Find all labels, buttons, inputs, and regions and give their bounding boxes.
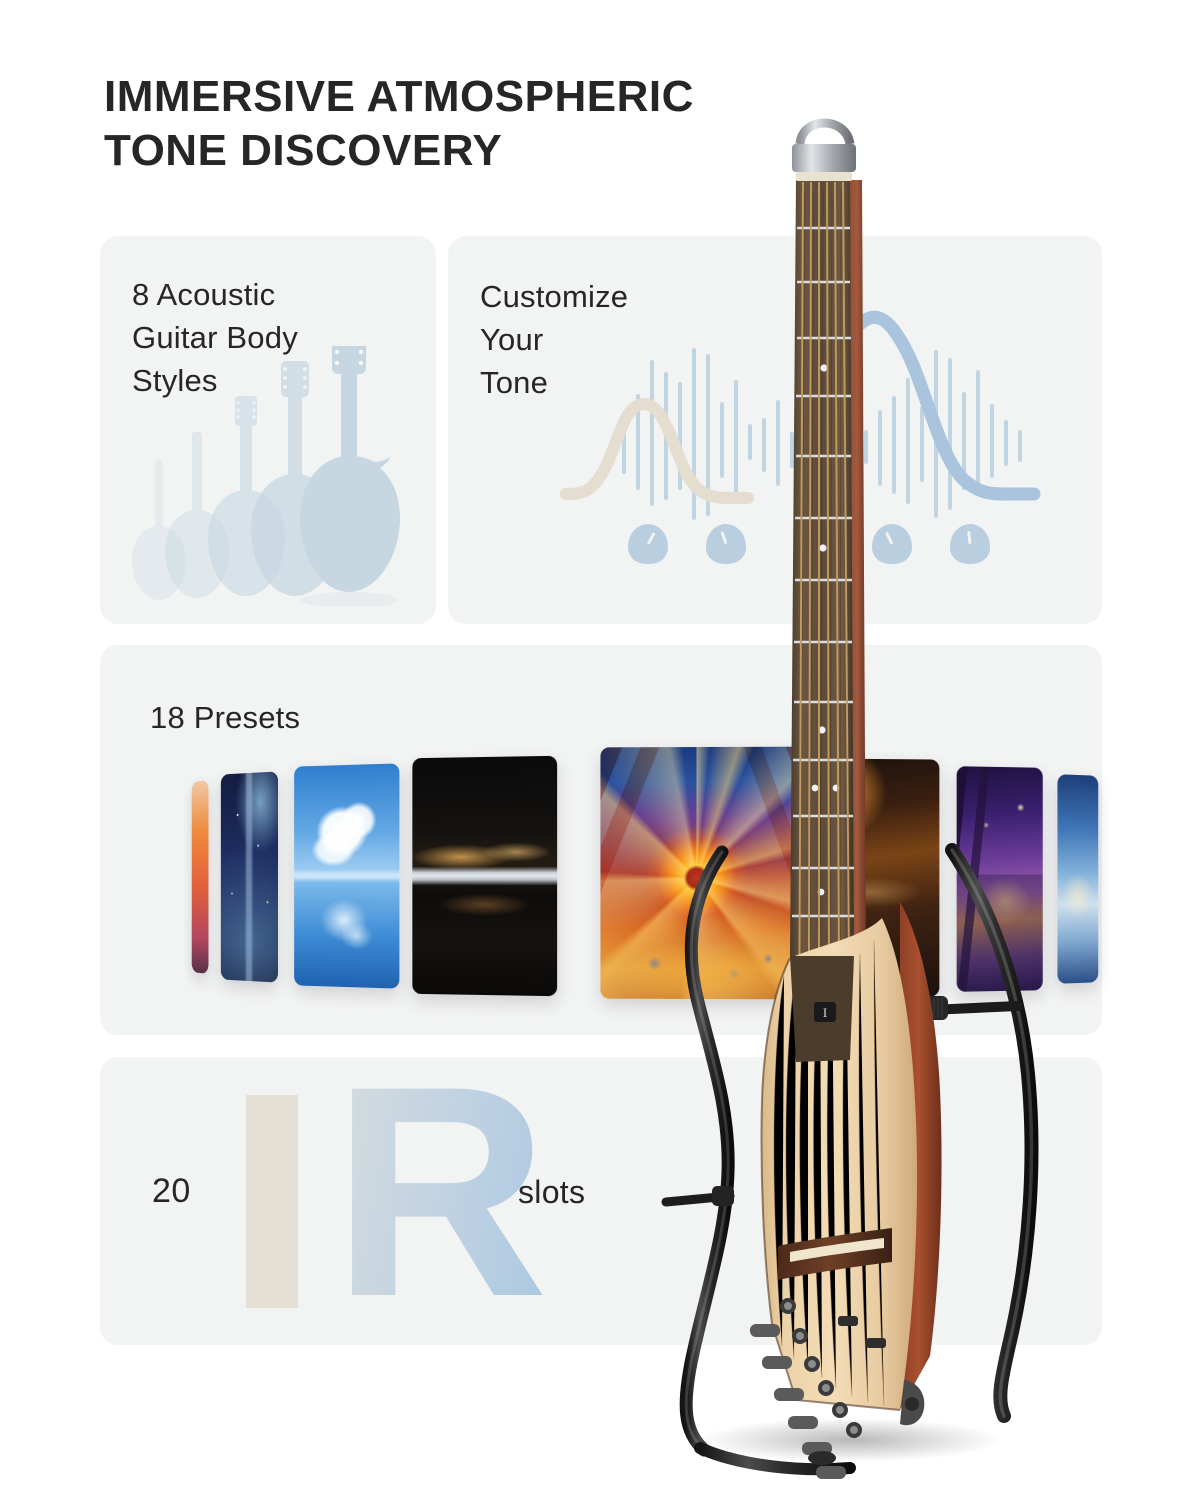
feature-card-presets[interactable]: 18 Presets [100,645,1102,1035]
guitar-silhouette-5 [286,346,422,606]
tone-knob-icon-2[interactable] [706,524,746,564]
preset-tile-mirrored-clouds[interactable] [294,763,399,988]
tone-knob-row [448,524,1102,580]
tone-knob-icon-1[interactable] [628,524,668,564]
feature-card-ir-slots[interactable]: 20 R slots [100,1057,1102,1345]
ir-letter-i [246,1095,298,1308]
preset-tile-cosmic[interactable] [221,771,278,982]
preset-tile-sunset-reflection [192,975,209,1028]
frame-foot-left [700,1448,850,1469]
body-styles-title: 8 Acoustic Guitar Body Styles [132,274,298,402]
preset-tile-strip [100,741,1102,1035]
page-title: IMMERSIVE ATMOSPHERIC TONE DISCOVERY [104,70,864,177]
preset-tile-violet-dusk[interactable] [957,766,1043,992]
feature-card-customize-tone[interactable]: Customize Your Tone [448,236,1102,624]
preset-tile-planet-reflection [812,999,939,1061]
preset-tile-volcanic-burst[interactable] [600,747,810,1000]
body-foot [808,1451,836,1465]
preset-tile-cosmic-reflection [221,983,278,1042]
ir-count: 20 [152,1172,191,1211]
tone-knob-icon-3[interactable] [872,524,912,564]
feature-card-body-styles[interactable]: 8 Acoustic Guitar Body Styles [100,236,436,624]
tuning-machines [750,1324,846,1479]
preset-tile-blue-haze[interactable] [1057,774,1098,984]
preset-tile-sunset[interactable] [192,780,209,974]
guitar-shadow [700,1418,1000,1462]
ir-letter-r: R [332,1085,543,1298]
preset-tile-violet-reflection [957,993,1043,1051]
ir-slots-label: slots [518,1174,585,1211]
endpin-jack [900,1380,924,1425]
preset-tile-blue-haze-reflection [1057,985,1098,1037]
marketing-page: IMMERSIVE ATMOSPHERIC TONE DISCOVERY 8 A… [0,0,1200,1500]
customize-tone-title: Customize Your Tone [480,276,628,404]
preset-tile-ember-horizon[interactable] [412,756,557,996]
preset-tile-warm-planet[interactable] [812,758,939,997]
presets-title: 18 Presets [150,697,300,740]
tone-knob-icon-4[interactable] [950,524,990,564]
